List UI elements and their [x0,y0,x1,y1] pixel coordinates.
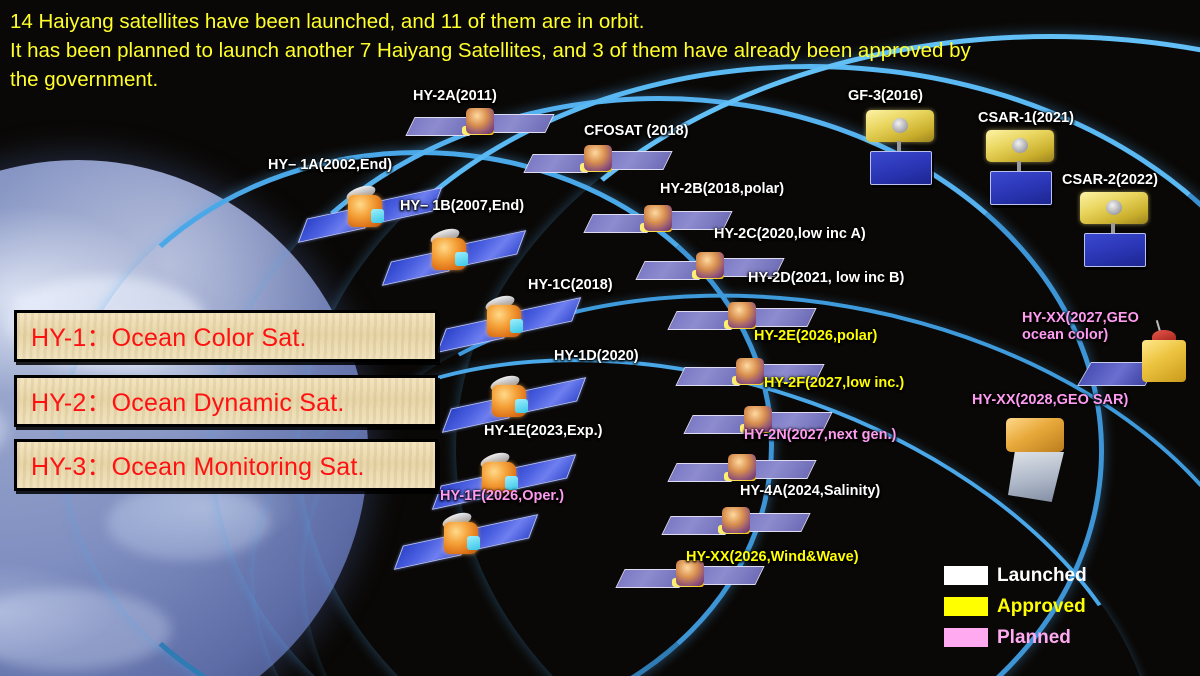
status-legend: Launched Approved Planned [944,560,1087,653]
satellite-label-hy-1d: HY-1D(2020) [554,348,639,365]
satellite-label-hy-2f: HY-2F(2027,low inc.) [764,375,904,392]
satellite-label-hy-1a: HY– 1A(2002,End) [268,157,392,174]
series-legend-hy-2: HY-2：Ocean Dynamic Sat. [14,375,438,427]
status-label-launched: Launched [997,565,1087,587]
status-label-approved: Approved [997,596,1086,618]
satellite-label-hy-4a: HY-4A(2024,Salinity) [740,483,880,500]
satellite-icon-hy-1b [400,228,518,290]
status-swatch-approved [944,597,988,616]
satellite-icon-geo-ocean-color [1084,336,1196,400]
satellite-label-gf-3: GF-3(2016) [848,88,923,105]
status-swatch-planned [944,628,988,647]
satellite-label-csar-2: CSAR-2(2022) [1062,172,1158,189]
satellite-icon-hy-1f [412,512,530,574]
satellite-label-hy-1b: HY– 1B(2007,End) [400,198,524,215]
satellite-label-hy-1e: HY-1E(2023,Exp.) [484,423,602,440]
series-legend-hy-1-label: HY-1：Ocean Color Sat. [17,318,307,354]
satellite-icon-hy-2a [410,106,548,146]
header-line-3: the government. [10,65,1195,94]
satellite-label-hy-2a: HY-2A(2011) [413,88,497,105]
satellite-label-cfosat: CFOSAT (2018) [584,123,688,140]
page-title: 14 Haiyang satellites have been launched… [10,7,1195,94]
satellite-label-hy-2e: HY-2E(2026,polar) [754,328,877,345]
satellite-icon-hy-2b [588,203,726,243]
satellite-icon-csar-2 [1076,192,1152,270]
satellite-icon-hy-4a [666,505,804,545]
satellite-label-csar-1: CSAR-1(2021) [978,110,1074,127]
status-label-planned: Planned [997,627,1071,649]
satellite-icon-gf-3 [862,110,938,188]
satellite-icon-cfosat [528,143,666,183]
satellite-label-geo-ocean-color: HY-XX(2027,GEO ocean color) [1022,310,1172,344]
satellite-label-hy-2n: HY-2N(2027,next gen.) [744,427,896,444]
satellite-label-hy-2c: HY-2C(2020,low inc A) [714,226,866,243]
satellite-label-hy-1f: HY-1F(2026,Oper.) [440,488,564,505]
series-legend-hy-3-label: HY-3：Ocean Monitoring Sat. [17,447,365,483]
satellite-icon-csar-1 [982,130,1058,208]
header-line-1: 14 Haiyang satellites have been launched… [10,7,1195,36]
series-legend-hy-3: HY-3：Ocean Monitoring Sat. [14,439,438,491]
status-legend-row-planned: Planned [944,622,1087,653]
satellite-icon-geo-sar [998,418,1090,510]
satellite-label-hy-1c: HY-1C(2018) [528,277,613,294]
header-line-2: It has been planned to launch another 7 … [10,36,1195,65]
satellite-label-geo-sar: HY-XX(2028,GEO SAR) [972,392,1128,409]
status-legend-row-launched: Launched [944,560,1087,591]
series-legend-hy-2-label: HY-2：Ocean Dynamic Sat. [17,383,345,419]
satellite-label-hy-xx-wind-wave: HY-XX(2026,Wind&Wave) [686,549,859,566]
satellite-label-hy-2b: HY-2B(2018,polar) [660,181,784,198]
slide-canvas: 14 Haiyang satellites have been launched… [0,0,1200,676]
satellite-label-hy-2d: HY-2D(2021, low inc B) [748,270,904,287]
series-legend-hy-1: HY-1：Ocean Color Sat. [14,310,438,362]
status-swatch-launched [944,566,988,585]
status-legend-row-approved: Approved [944,591,1087,622]
